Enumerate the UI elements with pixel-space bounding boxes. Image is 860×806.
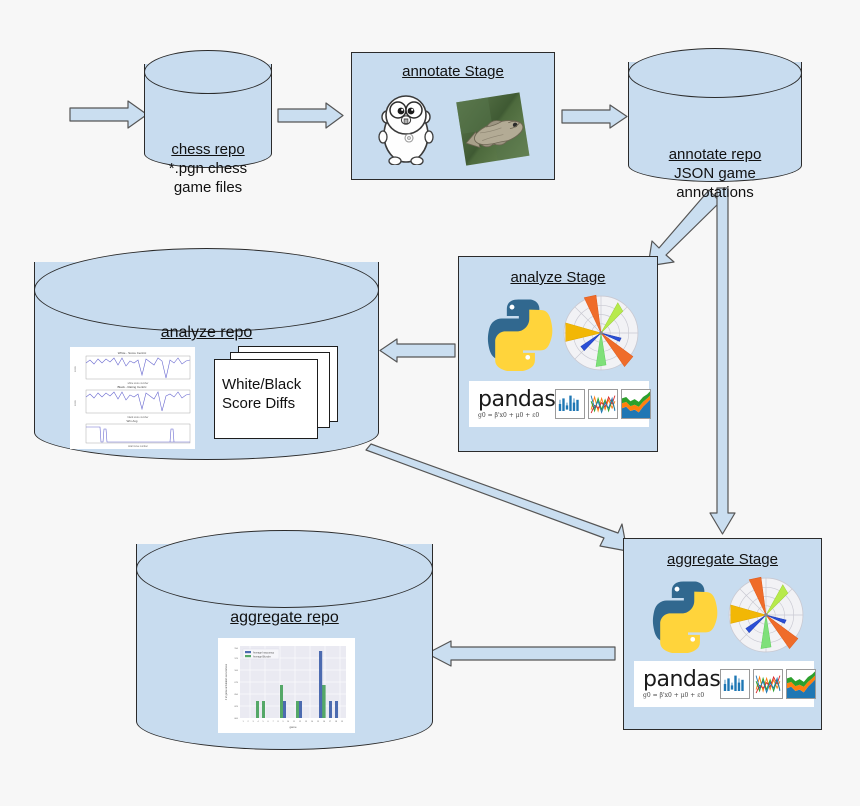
matplotlib-polar-chart-icon	[559, 291, 643, 375]
pandas-thumb-3	[621, 389, 651, 419]
annotate-repo-title: annotate repo	[628, 145, 802, 164]
edge-annotaterepo-aggregate	[708, 188, 738, 536]
svg-text:score: score	[74, 365, 77, 371]
pandas-thumb-2	[753, 669, 783, 699]
pandas-thumb-1	[555, 389, 585, 419]
node-analyze-repo[interactable]: analyze repo White - Score Centric white…	[34, 248, 379, 460]
edge-analyze-analyzerepo	[379, 338, 455, 364]
analyze-repo-title: analyze repo	[34, 323, 379, 343]
pandas-logo-icon: pandas g0 = β'x0 + μ0 + ε0	[634, 661, 814, 707]
edge-aggregate-aggregaterepo	[425, 640, 615, 668]
cylinder-top	[628, 48, 802, 98]
svg-text:total move number: total move number	[128, 445, 148, 448]
cylinder-top	[34, 248, 379, 332]
node-annotate-stage[interactable]: annotate Stage	[351, 52, 555, 180]
doc-line-1: White/Black	[222, 376, 301, 393]
chess-repo-line2: *.pgn chess	[169, 160, 247, 177]
pandas-thumbnails	[720, 669, 816, 699]
svg-text:Black - Rating Centric: Black - Rating Centric	[117, 385, 147, 389]
svg-text:Average Inaccuracy: Average Inaccuracy	[253, 652, 275, 655]
svg-text:White - Score Centric: White - Score Centric	[118, 351, 147, 355]
edge-in-chess	[70, 100, 148, 130]
annotate-repo-label: annotate repo JSON game annotations	[628, 145, 802, 203]
pandas-formula: g0 = β'x0 + μ0 + ε0	[478, 413, 555, 419]
svg-text:game: game	[290, 725, 297, 729]
svg-text:Average Blunder: Average Blunder	[253, 656, 271, 659]
node-analyze-stage[interactable]: analyze Stage	[458, 256, 658, 452]
chess-repo-title: chess repo	[144, 140, 272, 159]
chess-repo-label: chess repo *.pgn chess game files	[144, 140, 272, 198]
pandas-wordmark: pandas g0 = β'x0 + μ0 + ε0	[474, 389, 555, 419]
analyze-repo-doc-stack: White/Black Score Diffs	[214, 346, 342, 446]
stockfish-fish-icon	[450, 91, 536, 169]
node-chess-repo[interactable]: chess repo *.pgn chess game files	[144, 50, 272, 168]
pandas-thumb-1	[720, 669, 750, 699]
aggregate-repo-bar-chart: Average Inaccuracy Average Blunder game …	[218, 638, 355, 733]
svg-text:Win Avg: Win Avg	[127, 419, 138, 423]
pandas-formula: g0 = β'x0 + μ0 + ε0	[643, 693, 720, 699]
go-gopher-icon	[376, 93, 436, 165]
svg-text:# of game annotation occurrenc: # of game annotation occurrences	[225, 663, 228, 700]
svg-text:score: score	[74, 399, 77, 405]
node-annotate-repo[interactable]: annotate repo JSON game annotations	[628, 48, 802, 182]
pandas-word: pandas	[643, 669, 720, 691]
aggregate-repo-label: aggregate repo	[136, 608, 433, 628]
analyze-repo-label: analyze repo	[34, 323, 379, 343]
analyze-stage-title: analyze Stage	[459, 269, 657, 286]
matplotlib-polar-chart-icon	[724, 573, 808, 657]
cylinder-top	[136, 530, 433, 608]
python-logo-icon	[646, 577, 722, 653]
doc-line-2: Score Diffs	[222, 395, 295, 412]
edge-chess-annotate	[278, 102, 344, 130]
node-aggregate-repo[interactable]: aggregate repo	[136, 530, 433, 750]
node-aggregate-stage[interactable]: aggregate Stage	[623, 538, 822, 730]
pandas-thumb-2	[588, 389, 618, 419]
pandas-word: pandas	[478, 389, 555, 411]
edge-annotate-annotaterepo	[562, 104, 628, 130]
analyze-repo-line-charts: White - Score Centric white score number…	[70, 347, 195, 449]
cylinder-top	[144, 50, 272, 94]
annotate-repo-line2: JSON game	[674, 165, 756, 182]
annotate-repo-line3: annotations	[676, 184, 754, 201]
annotate-stage-title: annotate Stage	[352, 63, 554, 80]
analyze-repo-doc-text: White/Black Score Diffs	[222, 376, 316, 414]
pandas-thumb-3	[786, 669, 816, 699]
pandas-logo-icon: pandas g0 = β'x0 + μ0 + ε0	[469, 381, 649, 427]
python-logo-icon	[481, 295, 557, 371]
aggregate-stage-title: aggregate Stage	[624, 551, 821, 568]
chess-repo-line3: game files	[174, 179, 242, 196]
pandas-wordmark: pandas g0 = β'x0 + μ0 + ε0	[639, 669, 720, 699]
aggregate-repo-title: aggregate repo	[136, 608, 433, 628]
pandas-thumbnails	[555, 389, 651, 419]
